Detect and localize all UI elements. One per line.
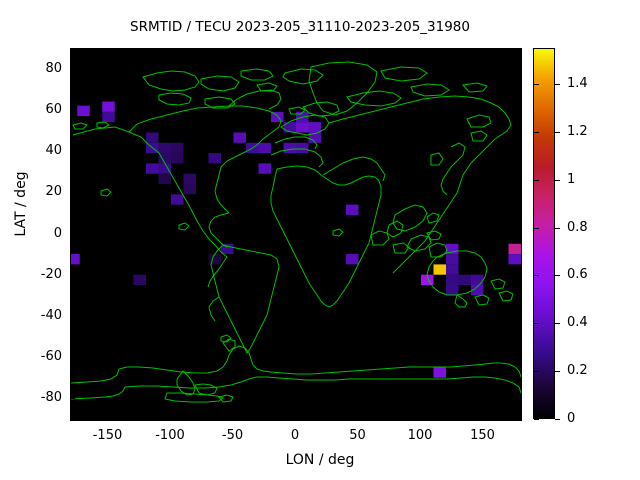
heatmap-cell <box>296 122 309 132</box>
y-tick-mark <box>70 151 75 152</box>
x-tick-mark <box>295 414 296 419</box>
heatmap-cell <box>171 194 184 204</box>
heatmap-cell <box>146 132 159 142</box>
heatmap-cells-group <box>71 102 521 378</box>
heatmap-cell <box>459 275 472 285</box>
x-tick-mark <box>170 48 171 53</box>
y-tick-mark <box>70 398 75 399</box>
x-tick-mark <box>108 48 109 53</box>
colorbar[interactable]: 1.41.210.80.60.40.20 <box>533 48 555 419</box>
y-tick-label: -40 <box>18 308 62 323</box>
colorbar-tick-mark-inner <box>534 132 539 133</box>
x-tick-label: 0 <box>265 428 325 443</box>
heatmap-cell <box>446 264 459 274</box>
x-tick-label: 50 <box>328 428 388 443</box>
chart-title: SRMTID / TECU 2023-205_31110-2023-205_31… <box>0 19 600 35</box>
colorbar-tick-mark-inner <box>534 419 539 420</box>
heatmap-cell <box>346 254 359 264</box>
world-map-svg <box>71 49 521 420</box>
x-tick-label: -50 <box>203 428 263 443</box>
x-tick-mark <box>358 414 359 419</box>
y-tick-label: 0 <box>18 226 62 241</box>
colorbar-tick-mark-inner <box>534 228 539 229</box>
colorbar-tick-mark <box>555 228 560 229</box>
heatmap-cell <box>209 153 222 163</box>
heatmap-cell <box>184 174 197 184</box>
colorbar-tick-mark-inner <box>534 275 539 276</box>
y-tick-mark <box>70 275 75 276</box>
colorbar-tick-label: 0.4 <box>567 315 588 330</box>
colorbar-tick-mark-inner <box>534 180 539 181</box>
y-tick-label: -80 <box>18 390 62 405</box>
y-tick-mark <box>70 192 75 193</box>
colorbar-tick-mark <box>555 371 560 372</box>
x-tick-label: -150 <box>78 428 138 443</box>
y-axis-label: LAT / deg <box>13 139 29 269</box>
x-tick-label: 150 <box>453 428 513 443</box>
heatmap-cell <box>234 132 247 142</box>
heatmap-cell <box>171 143 184 153</box>
heatmap-cell <box>171 153 184 163</box>
y-tick-mark <box>515 398 520 399</box>
y-tick-label: 20 <box>18 184 62 199</box>
x-tick-mark <box>358 48 359 53</box>
y-tick-mark <box>515 69 520 70</box>
heatmap-cell <box>284 143 297 153</box>
y-tick-mark <box>515 275 520 276</box>
y-tick-mark <box>515 110 520 111</box>
x-tick-mark <box>295 48 296 53</box>
y-tick-mark <box>515 234 520 235</box>
colorbar-tick-mark <box>555 132 560 133</box>
figure-root: SRMTID / TECU 2023-205_31110-2023-205_31… <box>0 0 640 480</box>
x-tick-mark <box>108 414 109 419</box>
colorbar-tick-mark-inner <box>534 84 539 85</box>
colorbar-tick-label: 0.2 <box>567 363 588 378</box>
y-tick-mark <box>70 316 75 317</box>
heatmap-cell <box>77 106 90 116</box>
y-tick-label: -60 <box>18 349 62 364</box>
y-tick-label: 60 <box>18 102 62 117</box>
heatmap-cell <box>434 264 447 274</box>
y-tick-mark <box>70 357 75 358</box>
colorbar-tick-mark <box>555 275 560 276</box>
colorbar-tick-mark <box>555 180 560 181</box>
heatmap-cell <box>509 244 522 254</box>
x-tick-mark <box>233 414 234 419</box>
y-tick-mark <box>70 69 75 70</box>
x-tick-mark <box>420 414 421 419</box>
x-axis-label: LON / deg <box>0 452 640 468</box>
colorbar-tick-mark-inner <box>534 323 539 324</box>
heatmap-cell <box>346 205 359 215</box>
y-tick-mark <box>515 316 520 317</box>
y-tick-mark <box>515 357 520 358</box>
heatmap-cell <box>471 275 484 285</box>
colorbar-tick-mark <box>555 84 560 85</box>
x-tick-mark <box>483 48 484 53</box>
x-tick-mark <box>233 48 234 53</box>
x-tick-label: 100 <box>390 428 450 443</box>
heatmap-cell <box>184 184 197 194</box>
colorbar-tick-mark <box>555 419 560 420</box>
x-tick-mark <box>170 414 171 419</box>
heatmap-cell <box>509 254 522 264</box>
heatmap-cell <box>102 112 115 122</box>
colorbar-tick-label: 1.2 <box>567 124 588 139</box>
heatmap-cell <box>209 254 222 264</box>
heatmap-cell <box>446 275 459 285</box>
heatmap-cell <box>102 102 115 112</box>
heatmap-cell <box>159 163 172 173</box>
colorbar-gradient <box>533 48 555 419</box>
heatmap-cell <box>259 163 272 173</box>
heatmap-cell <box>71 254 80 264</box>
colorbar-tick-label: 0 <box>567 411 575 426</box>
y-tick-mark <box>70 234 75 235</box>
heatmap-cell <box>296 143 309 153</box>
y-tick-label: -20 <box>18 267 62 282</box>
x-tick-mark <box>483 414 484 419</box>
x-tick-label: -100 <box>140 428 200 443</box>
colorbar-tick-label: 1.4 <box>567 76 588 91</box>
colorbar-tick-label: 1 <box>567 172 575 187</box>
colorbar-tick-label: 0.6 <box>567 267 588 282</box>
heatmap-cell <box>446 285 459 295</box>
colorbar-tick-mark-inner <box>534 371 539 372</box>
heatmap-cell <box>146 163 159 173</box>
y-tick-mark <box>515 151 520 152</box>
heatmap-cell <box>434 367 447 377</box>
y-tick-mark <box>515 192 520 193</box>
heatmap-cell <box>446 254 459 264</box>
colorbar-tick-label: 0.8 <box>567 220 588 235</box>
map-plot-area[interactable] <box>70 48 522 421</box>
y-tick-label: 40 <box>18 143 62 158</box>
colorbar-tick-mark <box>555 323 560 324</box>
heatmap-cell <box>159 174 172 184</box>
heatmap-cell <box>284 122 297 132</box>
y-tick-label: 80 <box>18 61 62 76</box>
heatmap-cell <box>259 143 272 153</box>
heatmap-cell <box>134 275 147 285</box>
x-tick-mark <box>420 48 421 53</box>
heatmap-cell <box>159 143 172 153</box>
heatmap-cell <box>309 122 322 132</box>
y-tick-mark <box>70 110 75 111</box>
